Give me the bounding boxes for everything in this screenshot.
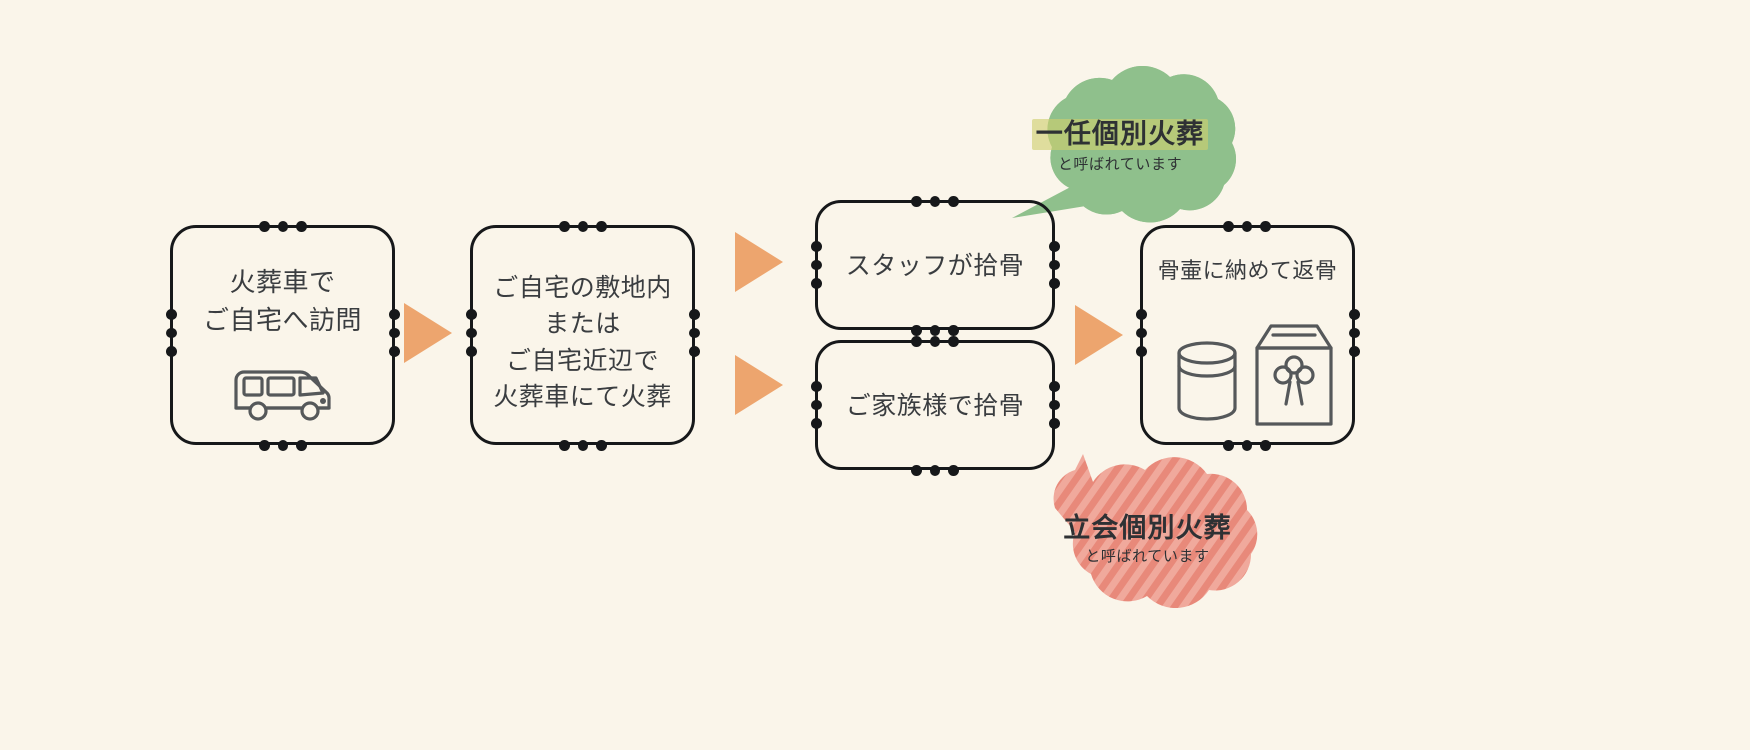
urn-icon: [1179, 343, 1235, 419]
box3b-dots-bottom: [907, 463, 963, 477]
callout-pink: 立会個別火葬 と呼ばれています: [1025, 448, 1270, 623]
arrow-step2-to-step3a: [735, 232, 783, 292]
box4-dots-top: [1219, 219, 1275, 233]
callout-pink-title: 立会個別火葬: [1025, 506, 1270, 545]
box1-dots-top: [255, 219, 311, 233]
box3a-dots-top: [907, 194, 963, 208]
diagram-canvas: 一任個別火葬 と呼ばれています 立会個別火葬 と呼ばれています: [0, 0, 1750, 750]
arrow-step3-to-step4: [1075, 305, 1123, 365]
urn-and-bag-icon: [1165, 320, 1335, 430]
step-box-1-label: 火葬車で ご自宅へ訪問: [170, 265, 395, 340]
box1-dots-bottom: [255, 438, 311, 452]
arrow-step2-to-step3b: [735, 355, 783, 415]
box2-dots-top: [555, 219, 611, 233]
arrow-step1-to-step2: [404, 303, 452, 363]
callout-green-title: 一任個別火葬: [1000, 112, 1240, 151]
box4-dots-right: [1347, 305, 1361, 361]
box2-dots-bottom: [555, 438, 611, 452]
step-box-2-label: ご自宅の敷地内 または ご自宅近辺で 火葬車にて火葬: [470, 270, 695, 415]
callout-pink-subtitle: と呼ばれています: [1025, 545, 1270, 566]
step-box-3b-label: ご家族様で拾骨: [815, 388, 1055, 424]
box4-dots-left: [1134, 305, 1148, 361]
step-box-4-label: 骨壷に納めて返骨: [1140, 256, 1355, 288]
callout-green-subtitle: と呼ばれています: [1000, 153, 1240, 174]
van-icon: [228, 360, 338, 422]
callout-green: 一任個別火葬 と呼ばれています: [1000, 55, 1240, 225]
step-box-3a-label: スタッフが拾骨: [815, 248, 1055, 284]
box4-dots-bottom: [1219, 438, 1275, 452]
memorial-bag-icon: [1257, 326, 1331, 424]
box3b-dots-top: [907, 334, 963, 348]
